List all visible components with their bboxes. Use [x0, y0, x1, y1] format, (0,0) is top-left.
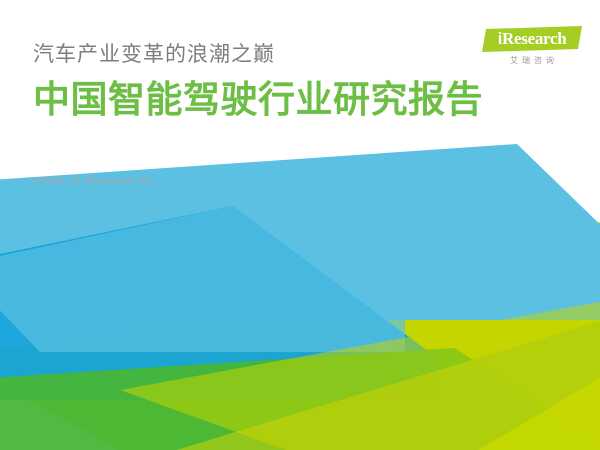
report-cover-slide: 汽车产业变革的浪潮之巅 中国智能驾驶行业研究报告 ©2021.12 iResea… [0, 0, 600, 450]
logo-wordmark: iResearch [482, 26, 582, 52]
cover-subtitle: 汽车产业变革的浪潮之巅 [33, 42, 503, 68]
title-block: 汽车产业变革的浪潮之巅 中国智能驾驶行业研究报告 [33, 42, 503, 122]
logo-chinese-name: 艾瑞咨询 [482, 55, 582, 66]
iresearch-logo[interactable]: iResearch 艾瑞咨询 [482, 26, 582, 72]
cover-title: 中国智能驾驶行业研究报告 [33, 78, 503, 122]
copyright-notice: ©2021.12 iResearch Inc. [33, 175, 156, 187]
logo-word-research: Research [502, 29, 566, 48]
logo-mark: iResearch [482, 26, 582, 52]
